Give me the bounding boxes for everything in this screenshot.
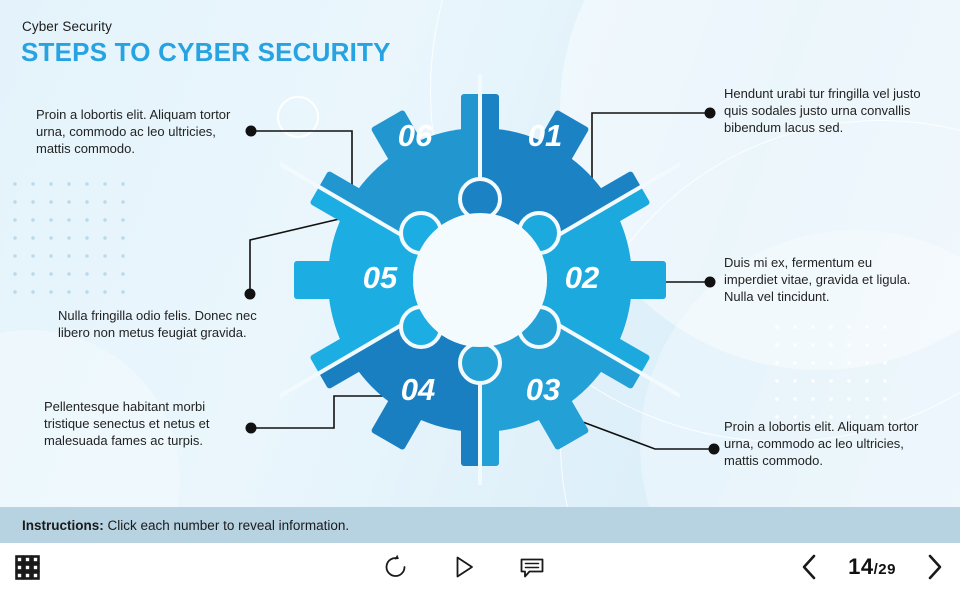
play-icon[interactable] (451, 554, 477, 580)
callout-text-04: Pellentesque habitant morbi tristique se… (44, 398, 244, 449)
chevron-left-icon[interactable] (798, 553, 822, 581)
cyber-security-gear-diagram: 01 02 03 04 05 06 (280, 75, 680, 485)
current-page: 14 (848, 554, 873, 579)
dot-pattern-right (768, 318, 894, 426)
gear-hub (413, 213, 547, 347)
replay-icon[interactable] (383, 554, 409, 580)
instructions-text: Click each number to reveal information. (104, 518, 349, 533)
callout-text-02: Duis mi ex, fermentum eu imperdiet vitae… (724, 254, 929, 305)
gear-svg: 01 02 03 04 05 06 (280, 75, 680, 485)
callout-text-01: Hendunt urabi tur fringilla vel justo qu… (724, 85, 929, 136)
breadcrumb-kicker: Cyber Security (22, 19, 112, 34)
gear-sectors (280, 75, 680, 485)
gear-number-02[interactable]: 02 (565, 260, 599, 295)
gear-number-01[interactable]: 01 (528, 118, 562, 153)
gear-number-03[interactable]: 03 (526, 372, 560, 407)
instructions-inner: Instructions: Click each number to revea… (0, 518, 349, 533)
dot-pattern-left (6, 175, 132, 301)
gear-number-06[interactable]: 06 (398, 118, 433, 153)
chevron-right-icon[interactable] (922, 553, 946, 581)
page-title: STEPS TO CYBER SECURITY (21, 37, 391, 68)
instructions-label: Instructions: (22, 518, 104, 533)
instructions-bar: Instructions: Click each number to revea… (0, 507, 960, 543)
callout-text-03: Proin a lobortis elit. Aliquam tortor ur… (724, 418, 929, 469)
gear-number-04[interactable]: 04 (401, 372, 435, 407)
grid-menu-icon[interactable] (14, 554, 40, 580)
callout-text-06: Proin a lobortis elit. Aliquam tortor ur… (36, 106, 236, 157)
page-indicator: 14/29 (848, 554, 896, 580)
player-toolbar: 14/29 (0, 543, 960, 590)
total-pages: /29 (874, 561, 896, 578)
notes-icon[interactable] (519, 554, 545, 580)
slide-canvas: Cyber Security STEPS TO CYBER SECURITY (0, 0, 960, 590)
gear-number-05[interactable]: 05 (363, 260, 398, 295)
callout-text-05: Nulla fringilla odio felis. Donec nec li… (58, 307, 290, 341)
